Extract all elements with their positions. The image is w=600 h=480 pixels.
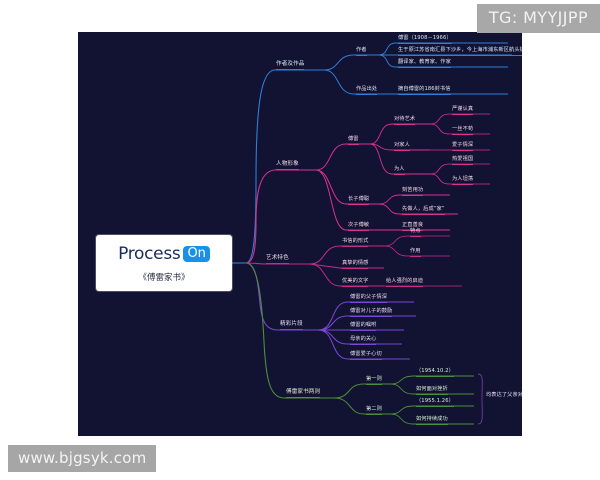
node-letter-one-date[interactable]: （1954.10.2） — [416, 369, 454, 377]
branch-label-character-image[interactable]: 人物形象 — [276, 162, 299, 170]
branch-label-art-features[interactable]: 艺术特色 — [266, 256, 289, 264]
branch-label-highlights[interactable]: 精彩片段 — [280, 322, 303, 330]
logo-text: Process — [118, 244, 180, 264]
node-work-source[interactable]: 作品出处 — [356, 87, 377, 95]
node-personhood[interactable]: 为人 — [394, 167, 405, 175]
node-beautiful-words[interactable]: 优美的文字 — [342, 279, 368, 287]
node-sincere-emotion[interactable]: 真挚的情感 — [342, 261, 368, 269]
node-toward-family[interactable]: 对家人 — [394, 143, 410, 151]
node-letter-two[interactable]: 第二则 — [366, 407, 382, 415]
node-letters-annotation[interactable]: 均表达了父亲对儿子的鼓舞之情 — [486, 393, 522, 400]
node-highlight-4[interactable]: 母亲的关心 — [350, 337, 376, 345]
node-toward-art[interactable]: 对待艺术 — [394, 117, 415, 125]
node-highlight-1[interactable]: 傅雷的父子情深 — [350, 295, 387, 303]
node-strong-inspiration[interactable]: 给人强烈的启迪 — [386, 279, 423, 287]
node-form-traits[interactable]: 特点 — [410, 229, 421, 237]
logo-badge: On — [183, 246, 209, 262]
branch-label-two-letters[interactable]: 傅雷家书两则 — [286, 390, 320, 398]
node-eldest-son[interactable]: 长子傅聪 — [348, 197, 369, 205]
node-form-function[interactable]: 作用 — [410, 249, 421, 257]
branch-label-author-works[interactable]: 作者及作品 — [276, 62, 304, 70]
root-node[interactable]: Process On 《傅雷家书》 — [96, 235, 232, 291]
node-highlight-5[interactable]: 傅雷爱子心切 — [350, 352, 382, 360]
node-upright[interactable]: 为人坦荡 — [452, 177, 473, 185]
node-author[interactable]: 作者 — [356, 48, 367, 56]
node-person-first[interactable]: 先做人，后成“家” — [402, 207, 445, 215]
node-second-son[interactable]: 次子傅敏 — [348, 223, 369, 231]
node-diligent[interactable]: 刻苦用功 — [402, 188, 423, 196]
mindmap-canvas: Process On 《傅雷家书》 作者及作品 作者 傅雷（1908－1966）… — [78, 32, 522, 436]
node-letter-one-topic[interactable]: 如何面对挫折 — [416, 387, 448, 395]
node-highlight-3[interactable]: 傅雷的嘱咐 — [350, 323, 376, 331]
node-letter-two-topic[interactable]: 如何持续成功 — [416, 417, 448, 425]
node-fulei[interactable]: 傅雷 — [348, 137, 359, 145]
mindmap-connectors — [78, 32, 522, 436]
node-art-meticulous[interactable]: 一丝不苟 — [452, 127, 473, 135]
node-highlight-2[interactable]: 傅雷对儿子的鼓励 — [350, 309, 392, 317]
node-family-love[interactable]: 爱子情深 — [452, 143, 473, 151]
website-watermark: www.bjgsyk.com — [8, 445, 156, 472]
root-subtitle: 《傅雷家书》 — [138, 271, 189, 283]
processon-logo: Process On — [118, 243, 210, 265]
telegram-watermark: TG: MYYJJPP — [477, 4, 600, 33]
node-letter-two-date[interactable]: （1955.1.26） — [416, 399, 454, 407]
node-author-roles[interactable]: 翻译家、教育家、作家 — [398, 60, 451, 68]
node-patriotic[interactable]: 热爱祖国 — [452, 157, 473, 165]
node-author-life[interactable]: 傅雷（1908－1966） — [398, 36, 452, 44]
node-art-rigorous[interactable]: 严谨认真 — [452, 107, 473, 115]
node-work-source-detail[interactable]: 摘自傅雷的186封书信 — [398, 87, 451, 95]
node-author-birth[interactable]: 生于原江苏省南汇县下沙乡，今上海市浦东新区航头镇 — [398, 48, 522, 56]
node-letter-one[interactable]: 第一则 — [366, 377, 382, 385]
node-letter-form[interactable]: 书信的形式 — [342, 239, 368, 247]
